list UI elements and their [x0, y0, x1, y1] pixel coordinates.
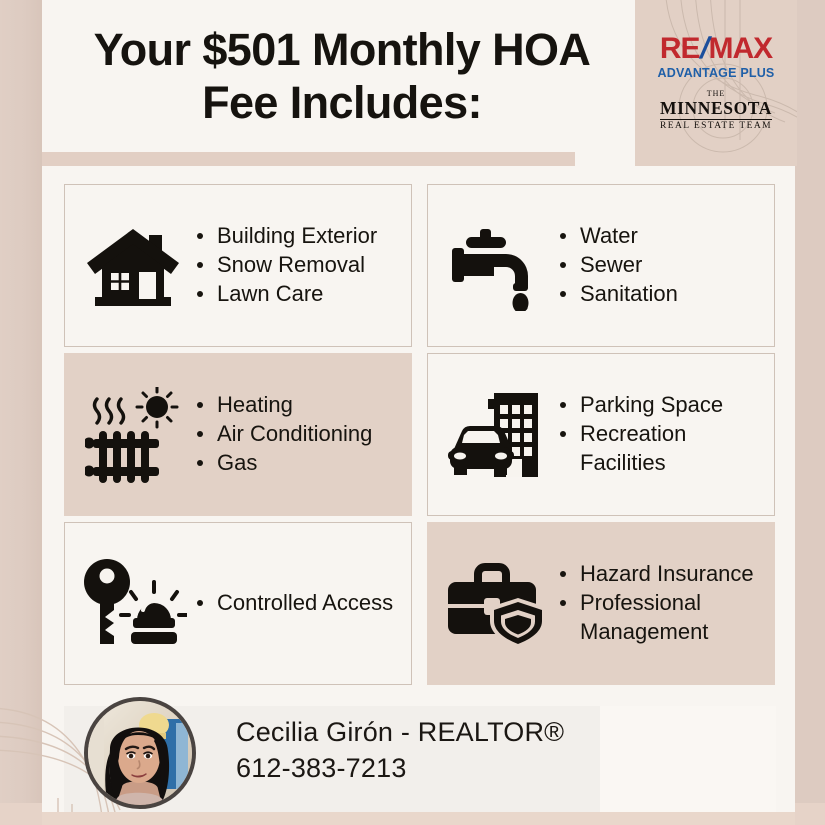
- benefit-items-amenities: Parking Space Recreation Facilities: [554, 391, 764, 477]
- benefit-items-insurance: Hazard Insurance Professional Management: [554, 560, 764, 646]
- benefits-row-2: Heating Air Conditioning Gas: [64, 353, 776, 516]
- list-item: Recreation Facilities: [558, 420, 764, 476]
- list-item: Sewer: [558, 251, 764, 279]
- agent-name: Cecilia Girón - REALTOR®: [236, 714, 564, 750]
- radiator-sun-icon: [79, 387, 191, 483]
- benefit-card-climate[interactable]: Heating Air Conditioning Gas: [64, 353, 412, 516]
- poster-canvas: Your $501 Monthly HOA Fee Includes: RE/M…: [0, 0, 825, 825]
- header-divider-gap: [575, 152, 635, 166]
- team-name-label: MINNESOTA: [660, 99, 772, 117]
- key-alarm-icon: [79, 558, 191, 650]
- remax-re-text: RE: [660, 34, 700, 64]
- list-item: Hazard Insurance: [558, 560, 764, 588]
- remax-wordmark: RE/MAX: [660, 34, 772, 64]
- benefit-items-security: Controlled Access: [191, 589, 401, 618]
- list-item: Lawn Care: [195, 280, 401, 308]
- list-item: Gas: [195, 449, 401, 477]
- benefit-items-building: Building Exterior Snow Removal Lawn Care: [191, 222, 401, 309]
- list-item: Heating: [195, 391, 401, 419]
- list-item: Professional Management: [558, 589, 764, 645]
- car-building-icon: [442, 389, 554, 481]
- remax-max-text: MAX: [709, 34, 773, 64]
- backdrop-left-band: [0, 0, 42, 825]
- agent-contact: Cecilia Girón - REALTOR® 612-383-7213: [236, 714, 564, 787]
- agent-headshot-image: [88, 701, 192, 805]
- header-region: Your $501 Monthly HOA Fee Includes:: [42, 0, 642, 152]
- team-sub-label: REAL ESTATE TEAM: [660, 119, 772, 131]
- faucet-icon: [442, 221, 554, 311]
- agent-phone[interactable]: 612-383-7213: [236, 750, 564, 786]
- benefits-row-3: Controlled Access: [64, 522, 776, 685]
- benefits-row-1: Building Exterior Snow Removal Lawn Care: [64, 184, 776, 347]
- list-item: Building Exterior: [195, 222, 401, 250]
- remax-tagline: ADVANTAGE PLUS: [658, 67, 775, 80]
- page-title: Your $501 Monthly HOA Fee Includes:: [42, 23, 642, 129]
- benefit-card-amenities[interactable]: Parking Space Recreation Facilities: [427, 353, 775, 516]
- benefit-items-climate: Heating Air Conditioning Gas: [191, 391, 401, 478]
- list-item: Parking Space: [558, 391, 764, 419]
- list-item: Controlled Access: [195, 589, 401, 617]
- briefcase-shield-icon: [442, 560, 554, 648]
- house-icon: [79, 223, 191, 309]
- benefits-grid: Building Exterior Snow Removal Lawn Care: [64, 184, 776, 691]
- benefit-items-utilities: Water Sewer Sanitation: [554, 222, 764, 309]
- backdrop-right-band: [795, 0, 825, 825]
- title-divider: [42, 152, 575, 166]
- benefit-card-insurance[interactable]: Hazard Insurance Professional Management: [427, 522, 775, 685]
- avatar: [84, 697, 196, 809]
- bottom-strip: [42, 812, 795, 825]
- benefit-card-utilities[interactable]: Water Sewer Sanitation: [427, 184, 775, 347]
- benefit-card-building[interactable]: Building Exterior Snow Removal Lawn Care: [64, 184, 412, 347]
- list-item: Water: [558, 222, 764, 250]
- remax-logo-block: RE/MAX ADVANTAGE PLUS THE MINNESOTA REAL…: [635, 0, 797, 166]
- list-item: Sanitation: [558, 280, 764, 308]
- benefit-card-security[interactable]: Controlled Access: [64, 522, 412, 685]
- list-item: Snow Removal: [195, 251, 401, 279]
- list-item: Air Conditioning: [195, 420, 401, 448]
- team-the-label: THE: [707, 90, 726, 98]
- remax-logo-content: RE/MAX ADVANTAGE PLUS THE MINNESOTA REAL…: [635, 0, 797, 166]
- footer-white-block: [600, 706, 776, 812]
